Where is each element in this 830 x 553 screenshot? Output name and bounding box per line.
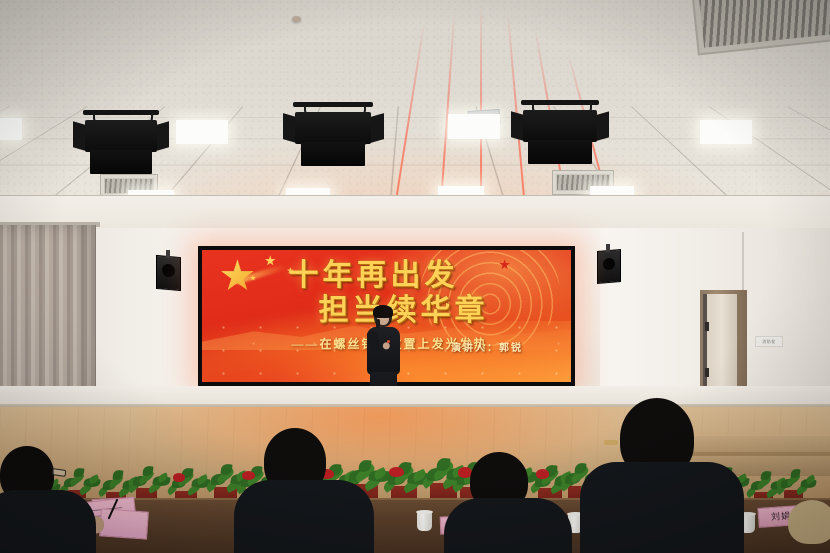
ac-grille bbox=[699, 0, 830, 48]
door-hinge bbox=[705, 322, 709, 331]
ceiling-panel-light bbox=[176, 120, 228, 144]
door-hinge bbox=[705, 368, 709, 377]
person-body bbox=[580, 462, 744, 553]
audience-member-1 bbox=[242, 428, 362, 553]
speaker-cone bbox=[162, 263, 175, 277]
stage-spotlight-center bbox=[288, 102, 378, 172]
spotlight-lower-body bbox=[528, 140, 591, 164]
stage-spotlight-right bbox=[516, 100, 604, 170]
wall-speaker-right bbox=[597, 249, 621, 284]
ceiling-panel-light bbox=[448, 114, 500, 139]
red-bloom bbox=[389, 467, 404, 478]
speaker-bracket-right bbox=[606, 244, 610, 252]
led-speaker-credit: 演讲人：郭锐 bbox=[451, 339, 523, 354]
spotlight-lower-body bbox=[301, 142, 366, 166]
audience-member-2 bbox=[452, 452, 562, 553]
spotlight-body bbox=[295, 112, 371, 144]
person-body bbox=[0, 490, 96, 553]
person-body bbox=[444, 498, 572, 553]
score-sheet bbox=[99, 508, 149, 539]
red-bloom bbox=[173, 473, 185, 482]
spotlight-lower-body bbox=[90, 150, 152, 174]
audience-member-3 bbox=[586, 398, 736, 553]
spotlight-body bbox=[523, 110, 597, 142]
wall-sign: 消防栓 bbox=[755, 336, 783, 347]
judge-writing-left bbox=[0, 446, 104, 553]
speaker-bracket-left bbox=[166, 250, 170, 258]
microphone-icon bbox=[376, 319, 380, 328]
small-star-icon bbox=[287, 267, 294, 274]
small-star-icon bbox=[265, 255, 276, 266]
person-head bbox=[788, 500, 830, 544]
paper-cup[interactable] bbox=[417, 512, 432, 531]
conference-hall-photo: 消防栓 十年再出发 担当续华章 ——在螺丝钉的位置上发光发热 演讲人：郭锐 bbox=[0, 0, 830, 553]
presenter-hair bbox=[373, 305, 393, 318]
audience-member-4 bbox=[780, 500, 830, 553]
spotlight-body bbox=[85, 120, 157, 152]
speaker-cone bbox=[603, 257, 615, 270]
wall-speaker-left bbox=[156, 255, 181, 291]
ceiling-panel-light bbox=[0, 118, 22, 140]
person-body bbox=[234, 480, 374, 553]
smoke-detector-icon bbox=[292, 16, 301, 22]
ceiling-panel-light bbox=[700, 120, 752, 144]
stage-spotlight-left bbox=[78, 110, 164, 178]
